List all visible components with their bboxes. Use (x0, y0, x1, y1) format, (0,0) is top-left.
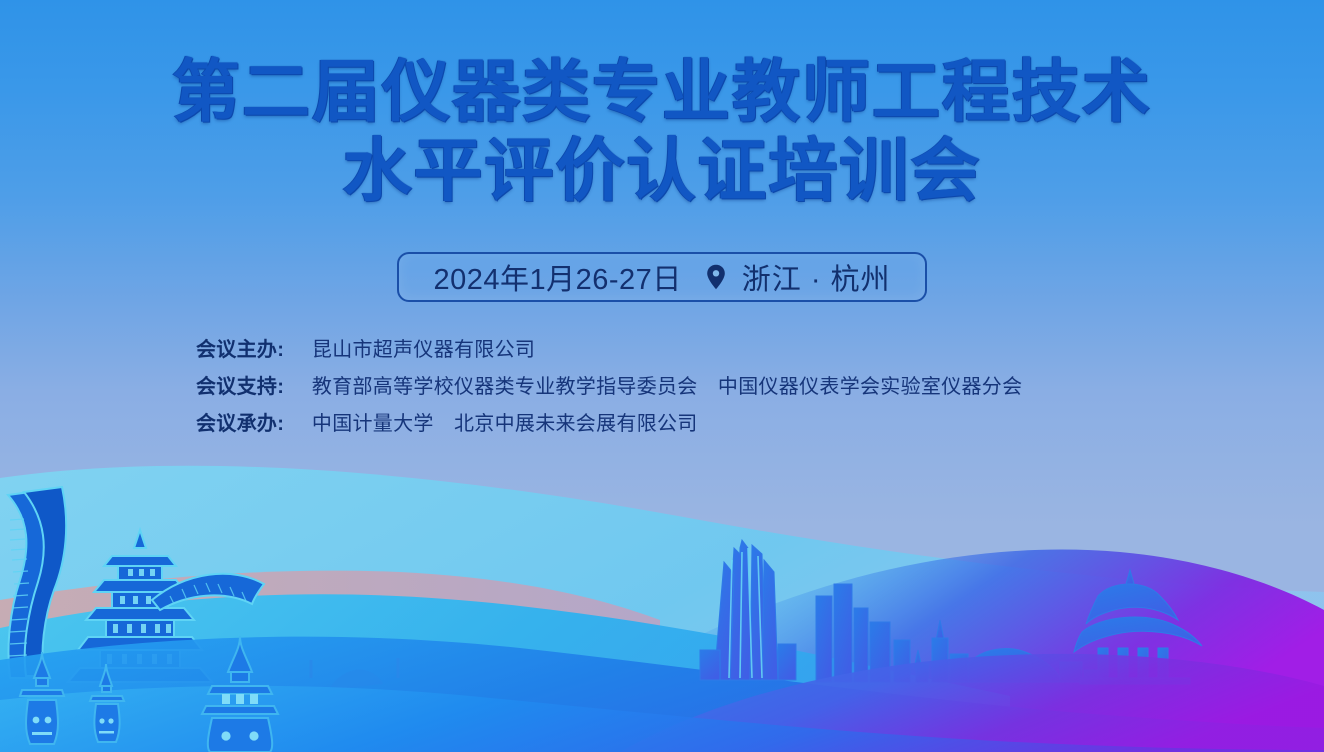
organizer-row: 会议支持: 教育部高等学校仪器类专业教学指导委员会 中国仪器仪表学会实验室仪器分… (196, 369, 1296, 406)
organizer-label: 会议主办: (196, 339, 284, 361)
conference-banner: 第二届仪器类专业教师工程技术 水平评价认证培训会 2024年1月26-27日 浙… (0, 0, 1324, 752)
organizer-value: 昆山市超声仪器有限公司 (312, 339, 535, 361)
organizer-label: 会议承办: (196, 413, 284, 435)
banner-title: 第二届仪器类专业教师工程技术 水平评价认证培训会 (0, 54, 1324, 210)
conference-date: 2024年1月26-27日 (433, 256, 681, 298)
organizer-label: 会议支持: (196, 376, 284, 398)
organizer-list: 会议主办: 昆山市超声仪器有限公司 会议支持: 教育部高等学校仪器类专业教学指导… (196, 332, 1296, 443)
conference-location: 浙江 · 杭州 (742, 256, 891, 298)
organizer-row: 会议承办: 中国计量大学 北京中展未来会展有限公司 (196, 406, 1296, 443)
banner-text-content: 第二届仪器类专业教师工程技术 水平评价认证培训会 2024年1月26-27日 浙… (0, 0, 1324, 752)
title-line-1: 第二届仪器类专业教师工程技术 (0, 54, 1324, 132)
location-pin-icon (706, 264, 726, 290)
date-location-row: 2024年1月26-27日 浙江 · 杭州 (0, 252, 1324, 302)
organizer-row: 会议主办: 昆山市超声仪器有限公司 (196, 332, 1296, 369)
title-line-2: 水平评价认证培训会 (0, 132, 1324, 210)
organizer-value: 中国计量大学 北京中展未来会展有限公司 (312, 413, 698, 435)
date-location-pill: 2024年1月26-27日 浙江 · 杭州 (397, 252, 926, 302)
organizer-value: 教育部高等学校仪器类专业教学指导委员会 中国仪器仪表学会实验室仪器分会 (312, 376, 1023, 398)
